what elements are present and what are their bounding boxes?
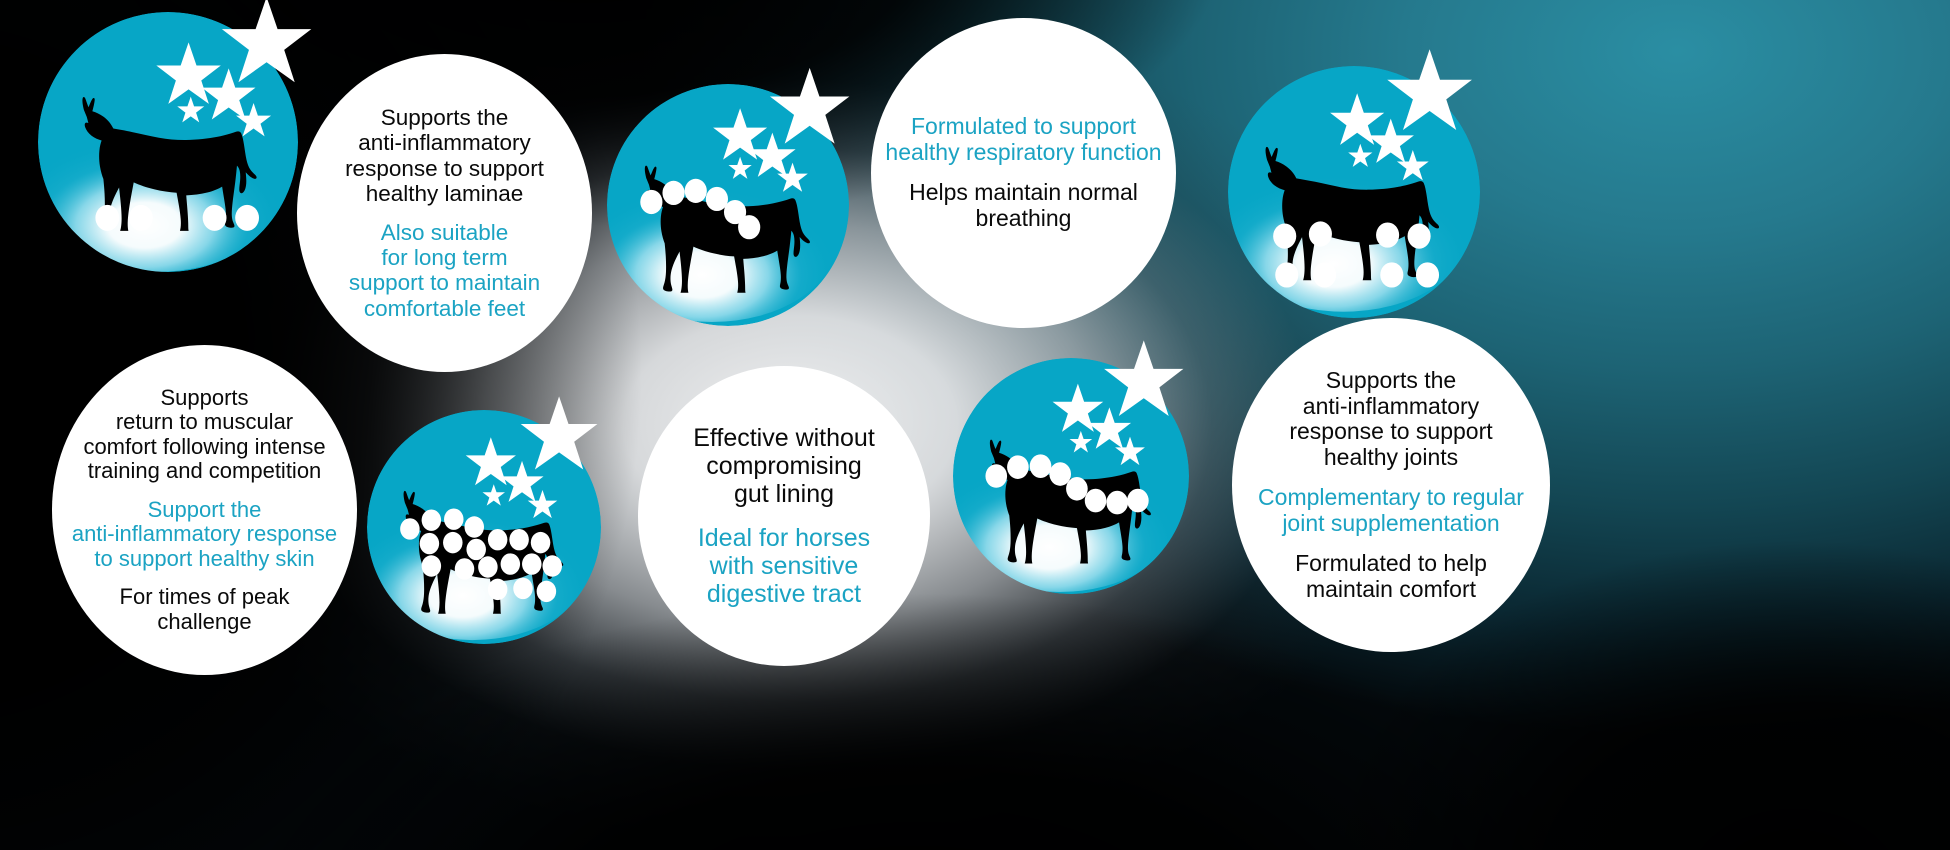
text-line: Supports the	[1258, 368, 1524, 394]
bubble-muscle-skin: Supportsreturn to muscularcomfort follow…	[52, 345, 357, 675]
text-line: healthy joints	[1258, 445, 1524, 471]
text-line: Complementary to regular	[1258, 485, 1524, 511]
text-line: For times of peak	[72, 585, 337, 610]
text-line: anti-inflammatory response	[72, 522, 337, 547]
horse-badge-legs	[1228, 66, 1480, 318]
bubble-laminae-text: Supports theanti-inflammatoryresponse to…	[345, 105, 544, 320]
text-line: compromising	[693, 452, 875, 480]
text-line: comfort following intense	[72, 435, 337, 460]
text-block-cyan: Ideal for horseswith sensitivedigestive …	[693, 524, 875, 608]
text-line: Formulated to help	[1258, 551, 1524, 577]
text-block-black: Effective withoutcompromisinggut lining	[693, 424, 875, 508]
text-line: Supports the	[345, 105, 544, 130]
text-line: maintain comfort	[1258, 577, 1524, 603]
text-block-cyan: Support theanti-inflammatory responseto …	[72, 498, 337, 572]
text-line: response to support	[345, 156, 544, 181]
text-line: healthy laminae	[345, 181, 544, 206]
text-block-black: Formulated to helpmaintain comfort	[1258, 551, 1524, 603]
bubble-respiratory: Formulated to supporthealthy respiratory…	[871, 18, 1176, 328]
horse-badge-icon	[1228, 66, 1480, 318]
text-line: healthy respiratory function	[885, 140, 1161, 166]
horse-badge-icon	[38, 12, 298, 272]
text-line: Support the	[72, 498, 337, 523]
text-line: comfortable feet	[345, 296, 544, 321]
text-line: Also suitable	[345, 220, 544, 245]
text-line: return to muscular	[72, 410, 337, 435]
text-line: Effective without	[693, 424, 875, 452]
text-block-black: Supportsreturn to muscularcomfort follow…	[72, 386, 337, 485]
text-line: with sensitive	[693, 552, 875, 580]
text-block-cyan: Complementary to regularjoint supplement…	[1258, 485, 1524, 537]
text-block-black: Helps maintain normalbreathing	[885, 180, 1161, 232]
horse-badge-icon	[953, 358, 1189, 594]
text-line: support to maintain	[345, 270, 544, 295]
horse-badge-neck	[607, 84, 849, 326]
text-line: anti-inflammatory	[345, 130, 544, 155]
text-line: Ideal for horses	[693, 524, 875, 552]
text-line: for long term	[345, 245, 544, 270]
text-line: Formulated to support	[885, 114, 1161, 140]
bubble-laminae: Supports theanti-inflammatoryresponse to…	[297, 54, 592, 372]
bubble-muscle-skin-text: Supportsreturn to muscularcomfort follow…	[72, 386, 337, 635]
text-block-spacer	[1258, 537, 1524, 551]
text-block-spacer	[693, 508, 875, 524]
horse-badge-topline	[953, 358, 1189, 594]
text-block-spacer	[885, 166, 1161, 180]
text-line: response to support	[1258, 419, 1524, 445]
text-block-spacer	[72, 484, 337, 498]
text-line: to support healthy skin	[72, 547, 337, 572]
horse-badge-hooves	[38, 12, 298, 272]
text-line: gut lining	[693, 480, 875, 508]
infographic-canvas: Supports theanti-inflammatoryresponse to…	[0, 0, 1950, 850]
text-block-spacer	[1258, 471, 1524, 485]
text-block-black: Supports theanti-inflammatoryresponse to…	[1258, 368, 1524, 471]
text-line: breathing	[885, 206, 1161, 232]
text-block-cyan: Also suitablefor long termsupport to mai…	[345, 220, 544, 321]
bubble-joints: Supports theanti-inflammatoryresponse to…	[1232, 318, 1550, 652]
text-line: training and competition	[72, 459, 337, 484]
horse-badge-allover	[367, 410, 601, 644]
text-line: digestive tract	[693, 580, 875, 608]
text-line: Helps maintain normal	[885, 180, 1161, 206]
horse-badge-icon	[607, 84, 849, 326]
text-block-black: Supports theanti-inflammatoryresponse to…	[345, 105, 544, 206]
text-block-black: For times of peakchallenge	[72, 585, 337, 634]
bubble-gut-text: Effective withoutcompromisinggut liningI…	[693, 424, 875, 608]
text-line: anti-inflammatory	[1258, 394, 1524, 420]
text-line: Supports	[72, 386, 337, 411]
text-block-spacer	[345, 206, 544, 220]
text-line: joint supplementation	[1258, 511, 1524, 537]
text-block-spacer	[72, 572, 337, 586]
bubble-joints-text: Supports theanti-inflammatoryresponse to…	[1258, 368, 1524, 603]
bubble-gut: Effective withoutcompromisinggut liningI…	[638, 366, 930, 666]
text-line: challenge	[72, 610, 337, 635]
bubble-respiratory-text: Formulated to supporthealthy respiratory…	[885, 114, 1161, 231]
text-block-cyan: Formulated to supporthealthy respiratory…	[885, 114, 1161, 166]
horse-badge-icon	[367, 410, 601, 644]
